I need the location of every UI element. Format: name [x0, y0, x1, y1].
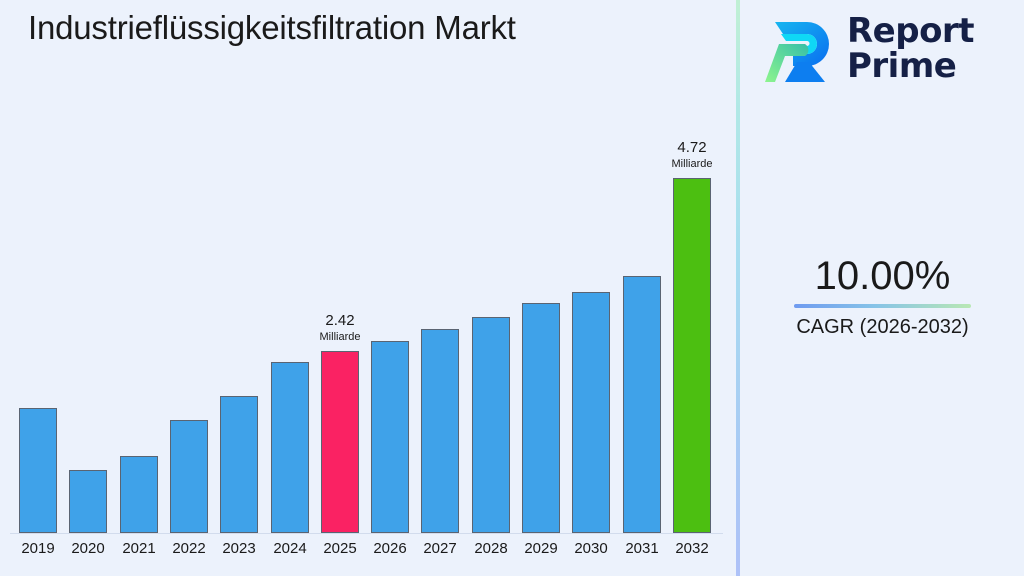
x-axis-line: [10, 533, 723, 534]
bar-chart-plot: 20192020202120222023202420252.42Milliard…: [0, 0, 737, 576]
x-tick-label-2032: 2032: [667, 539, 717, 559]
brand-logo: Report Prime: [763, 10, 974, 88]
chart-panel: Industrieflüssigkeitsfiltration Markt 20…: [0, 0, 737, 576]
bar-value-2032: 4.72: [649, 138, 735, 157]
bar-2024: [271, 362, 309, 533]
bar-2032: [673, 178, 711, 533]
x-tick-label-2029: 2029: [516, 539, 566, 559]
x-tick-label-2027: 2027: [415, 539, 465, 559]
x-tick-label-2022: 2022: [164, 539, 214, 559]
x-tick-label-2030: 2030: [566, 539, 616, 559]
bar-2031: [623, 276, 661, 533]
bar-2029: [522, 303, 560, 533]
bar-2022: [170, 420, 208, 533]
infographic-page: Industrieflüssigkeitsfiltration Markt 20…: [0, 0, 1024, 576]
brand-name-line2: Prime: [847, 46, 956, 86]
bar-unit-2032: Milliarde: [649, 157, 735, 171]
bar-2028: [472, 317, 510, 533]
bar-2023: [220, 396, 258, 533]
panel-divider: [736, 0, 740, 576]
x-tick-label-2026: 2026: [365, 539, 415, 559]
bar-2026: [371, 341, 409, 533]
x-tick-label-2024: 2024: [265, 539, 315, 559]
report-prime-r-mark-icon: [763, 10, 837, 88]
bar-2027: [421, 329, 459, 533]
cagr-divider: [794, 304, 971, 308]
cagr-caption: CAGR (2026-2032): [741, 314, 1024, 340]
bar-value-2025: 2.42: [297, 311, 383, 330]
bar-2021: [120, 456, 158, 533]
bar-2020: [69, 470, 107, 533]
x-tick-label-2021: 2021: [114, 539, 164, 559]
x-tick-label-2025: 2025: [315, 539, 365, 559]
cagr-value: 10.00%: [741, 252, 1024, 300]
cagr-block: 10.00% CAGR (2026-2032): [741, 252, 1024, 340]
bar-value-label-2025: 2.42Milliarde: [297, 311, 383, 344]
x-tick-label-2019: 2019: [13, 539, 63, 559]
x-tick-label-2031: 2031: [617, 539, 667, 559]
brand-name-line1: Report: [847, 11, 974, 51]
x-tick-label-2023: 2023: [214, 539, 264, 559]
x-tick-label-2020: 2020: [63, 539, 113, 559]
bar-2025: [321, 351, 359, 533]
bar-2030: [572, 292, 610, 533]
summary-panel: Report Prime 10.00% CAGR (2026-2032): [741, 0, 1024, 576]
x-tick-label-2028: 2028: [466, 539, 516, 559]
bar-value-label-2032: 4.72Milliarde: [649, 138, 735, 171]
brand-name: Report Prime: [847, 14, 974, 84]
bar-2019: [19, 408, 57, 533]
